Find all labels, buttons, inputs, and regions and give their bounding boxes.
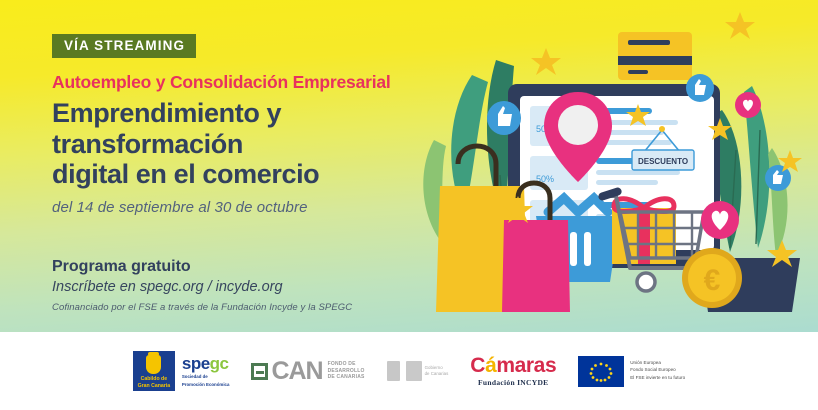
hero-section: 50% 50% DESCUENTO — [0, 0, 818, 332]
sponsor-logo-bar: Cabildo de Gran Canaria spegc Sociedad d… — [0, 332, 818, 410]
gobierno-mark-icon — [406, 361, 422, 381]
cabildo-gran-canaria-logo: Cabildo de Gran Canaria — [133, 351, 175, 391]
camaras-letter-a: á — [485, 354, 496, 377]
logo-union-europea: Unión Europea Fondo Social Europeo El FS… — [578, 356, 685, 387]
spegc-logo: spegc Sociedad de Promoción Económica — [182, 355, 230, 388]
eu-line-2: Fondo Social Europeo — [630, 367, 685, 374]
can-subtext: FONDO DE DESARROLLO DE CANARIAS — [323, 361, 365, 381]
credit-card — [618, 32, 692, 80]
spegc-word-part-2: gc — [210, 354, 229, 373]
title-line-1: Emprendimiento y transformación — [52, 98, 452, 160]
discount-sign-text: DESCUENTO — [638, 157, 688, 166]
page-title: Emprendimiento y transformación digital … — [52, 98, 452, 190]
streaming-badge: VÍA STREAMING — [52, 34, 196, 58]
can-sub-1: FONDO DE — [328, 361, 365, 368]
title-line-2: digital en el comercio — [52, 159, 452, 190]
spegc-wordmark: spegc — [182, 355, 230, 372]
cofunding-note: Cofinanciado por el FSE a través de la F… — [52, 302, 472, 313]
camaras-letter-c: C — [470, 354, 485, 377]
logo-can: CAN FONDO DE DESARROLLO DE CANARIAS — [251, 359, 364, 384]
gobierno-subtext: Gobierno de Canarias — [422, 365, 449, 377]
event-dates: del 14 de septiembre al 30 de octubre — [52, 199, 452, 216]
can-wordmark: CAN — [271, 359, 322, 384]
spegc-word-part-1: spe — [182, 354, 210, 373]
camaras-letters-rest: maras — [496, 354, 556, 377]
can-sub-2: DESARROLLO — [328, 368, 365, 375]
registration-link-text[interactable]: Inscríbete en spegc.org / incyde.org — [52, 279, 472, 295]
eu-subtext: Unión Europea Fondo Social Europeo El FS… — [630, 360, 685, 383]
spegc-sub-2: Promoción Económica — [182, 382, 230, 388]
logo-cabildo-spegc: Cabildo de Gran Canaria spegc Sociedad d… — [133, 351, 230, 391]
free-program-title: Programa gratuito — [52, 258, 472, 276]
cabildo-line-2: Gran Canaria — [138, 383, 171, 390]
camaras-wordmark: Cámaras — [470, 355, 556, 376]
incyde-subtext: Fundación INCYDE — [470, 378, 556, 387]
program-kicker: Autoempleo y Consolidación Empresarial — [52, 73, 452, 92]
crest-icon — [146, 355, 161, 374]
euro-coin: € — [682, 248, 742, 308]
gobierno-sub-2: de Canarias — [425, 371, 449, 377]
eu-line-1: Unión Europea — [630, 360, 685, 367]
eu-line-3: El FSE invierte en tu futuro — [630, 375, 685, 382]
eu-flag-icon — [578, 356, 624, 387]
euro-symbol: € — [704, 264, 721, 297]
spegc-sub-1: Sociedad de — [182, 374, 230, 380]
registration-block: Programa gratuito Inscríbete en spegc.or… — [52, 258, 472, 313]
promotional-banner: 50% 50% DESCUENTO — [0, 0, 818, 410]
can-mark-icon — [251, 363, 268, 380]
logo-camaras-incyde: Cámaras Fundación INCYDE — [470, 355, 556, 387]
logo-gobierno-canarias: Gobierno de Canarias — [387, 361, 449, 381]
can-sub-3: DE CANARIAS — [328, 374, 365, 381]
headline-block: VÍA STREAMING Autoempleo y Consolidación… — [52, 34, 452, 216]
ministry-mark-icon — [387, 361, 400, 381]
